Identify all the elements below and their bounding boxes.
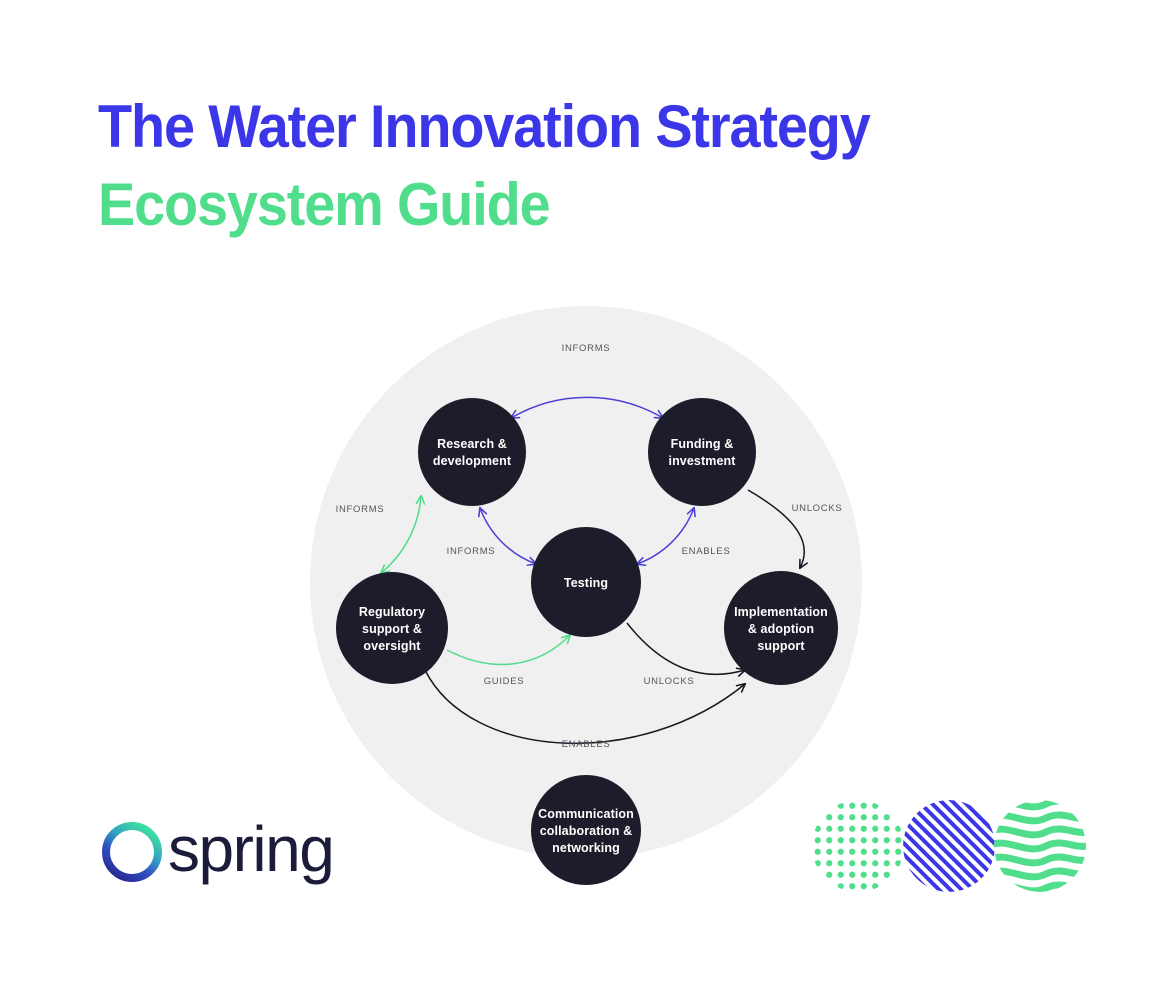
edge-label-testing-funding: ENABLES	[682, 546, 731, 557]
node-label-communication-line-2: collaboration &	[540, 824, 632, 838]
node-label-funding-line-2: investment	[669, 454, 737, 468]
dot-grid-icon	[812, 800, 904, 892]
node-regulatory-support-oversight[interactable]: Regulatory support & oversight	[336, 572, 448, 684]
node-circle-funding[interactable]	[648, 398, 756, 506]
node-label-implementation-line-1: Implementation	[734, 605, 828, 619]
node-research-development[interactable]: Research & development	[418, 398, 526, 506]
node-label-regulatory-line-3: oversight	[363, 639, 421, 653]
node-communication-collaboration-networking[interactable]: Communication collaboration & networking	[531, 775, 641, 885]
diagonal-stripe-circle	[903, 800, 995, 892]
wave-lines-icon	[994, 800, 1086, 892]
node-label-implementation-line-2: & adoption	[748, 622, 814, 636]
node-label-regulatory-line-2: support &	[362, 622, 422, 636]
node-label-funding-line-1: Funding &	[671, 437, 734, 451]
wave-circle	[994, 800, 1086, 892]
node-implementation-adoption-support[interactable]: Implementation & adoption support	[724, 571, 838, 685]
node-testing[interactable]: Testing	[531, 527, 641, 637]
node-label-communication-line-1: Communication	[538, 807, 634, 821]
node-label-research-line-1: Research &	[437, 437, 507, 451]
decorative-circles	[812, 800, 1084, 896]
edge-label-research-testing: INFORMS	[447, 546, 496, 557]
edge-label-testing-implementation: UNLOCKS	[644, 676, 695, 687]
edge-label-regulatory-testing: GUIDES	[484, 676, 525, 687]
node-label-testing: Testing	[564, 576, 608, 590]
spring-wordmark: spring	[168, 811, 333, 887]
node-funding-investment[interactable]: Funding & investment	[648, 398, 756, 506]
node-label-communication-line-3: networking	[552, 841, 620, 855]
edge-label-regulatory-implementation: ENABLES	[562, 739, 611, 750]
node-label-research-line-2: development	[433, 454, 512, 468]
edge-label-funding-implementation: UNLOCKS	[792, 503, 843, 514]
diagonal-stripe-icon	[903, 800, 995, 892]
edge-label-regulatory-research: INFORMS	[336, 504, 385, 515]
spring-logo[interactable]: spring	[100, 813, 330, 889]
node-label-regulatory-line-1: Regulatory	[359, 605, 425, 619]
node-label-implementation-line-3: support	[757, 639, 805, 653]
spring-ring-icon	[100, 817, 164, 887]
edge-label-research-funding: INFORMS	[562, 343, 611, 354]
dot-grid-circle	[812, 800, 904, 892]
node-circle-research[interactable]	[418, 398, 526, 506]
